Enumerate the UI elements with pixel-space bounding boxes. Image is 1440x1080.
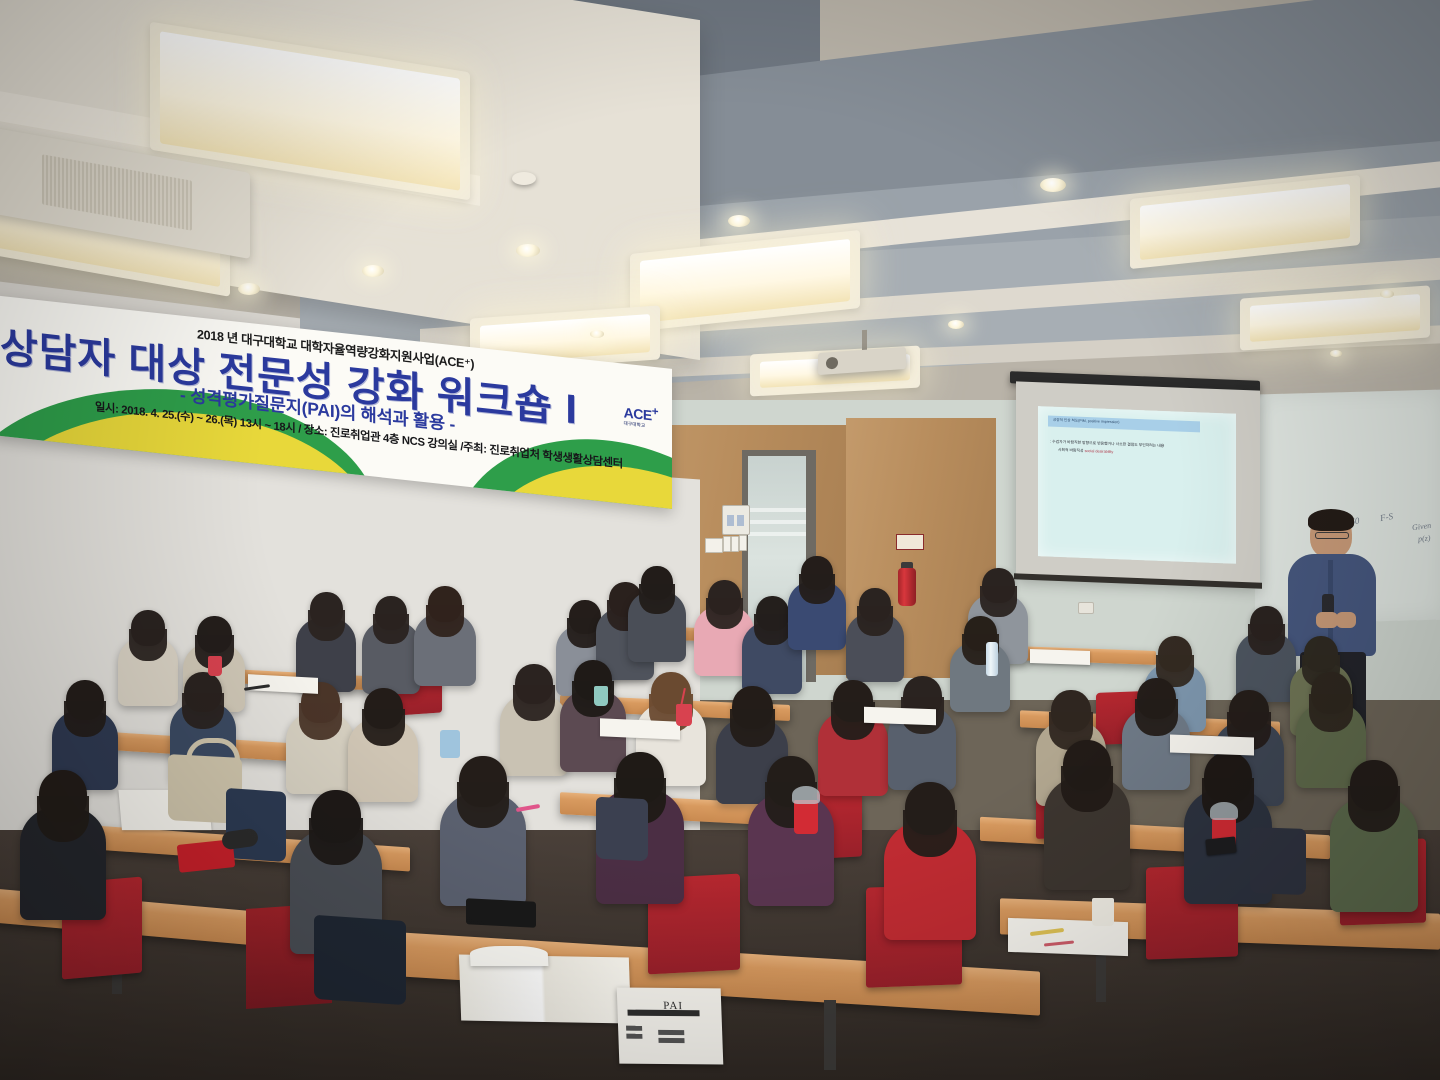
attendee <box>440 756 526 906</box>
pai-block-4 <box>658 1038 684 1043</box>
attendee <box>1044 740 1130 890</box>
pai-block-3 <box>658 1030 684 1035</box>
attendee-hair <box>1348 786 1400 832</box>
audience-row-front <box>0 0 1440 1080</box>
attendee <box>884 782 976 940</box>
paper-cup-1 <box>1092 898 1114 926</box>
coffee-cup-4 <box>208 656 222 676</box>
attendee-hair <box>309 818 363 866</box>
pai-block-1 <box>626 1026 642 1031</box>
pai-booklet-title: PAI <box>663 1000 683 1012</box>
backpack-foreground <box>314 915 406 1005</box>
handout-3 <box>600 718 680 739</box>
handout-4 <box>1170 735 1254 756</box>
attendee <box>1330 760 1418 912</box>
pai-booklet: PAI <box>617 988 724 1065</box>
attendee-hair <box>37 796 89 842</box>
workbook-page-curl <box>470 946 549 966</box>
attendee-hair <box>457 782 509 828</box>
tumbler-mint <box>594 686 608 706</box>
smartphone[interactable] <box>1205 836 1237 855</box>
lecture-room-photo: Scale 5.60 6/244 F-S Given p(z) 2018 년 대… <box>0 0 1440 1080</box>
wallet <box>466 898 536 928</box>
backpack-3 <box>1250 827 1306 895</box>
handout-5 <box>864 707 936 726</box>
attendee-hair <box>903 810 957 858</box>
cup-lid-2 <box>1210 802 1238 820</box>
pai-block-2 <box>626 1034 642 1039</box>
attendee <box>20 770 106 920</box>
backpack-2 <box>596 797 648 862</box>
coffee-cup-1 <box>794 800 818 834</box>
water-bottle-2 <box>986 642 998 676</box>
handout-2 <box>1030 649 1090 665</box>
cup-lid-1 <box>792 786 820 804</box>
tumbler-blue <box>440 730 460 758</box>
attendee <box>748 756 834 906</box>
coffee-cup-3 <box>676 704 692 726</box>
backpack-1 <box>226 788 286 862</box>
tote-bag-handle <box>186 738 240 769</box>
attendee-hair <box>1061 766 1113 812</box>
